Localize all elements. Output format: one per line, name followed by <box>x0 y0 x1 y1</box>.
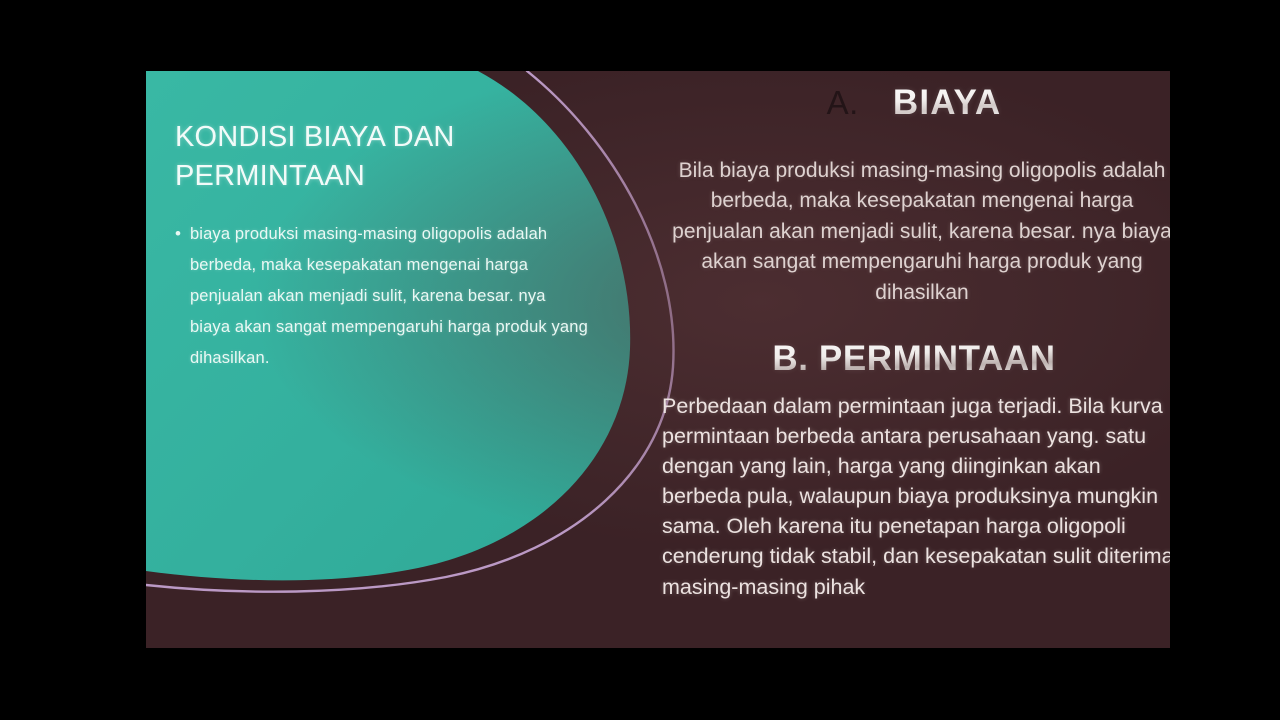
left-panel-body-text: biaya produksi masing-masing oligopolis … <box>190 219 590 374</box>
screenshot-root: KONDISI BIAYA DAN PERMINTAAN • biaya pro… <box>0 0 1280 720</box>
section-a-letter: A. <box>827 84 859 122</box>
left-panel-title: KONDISI BIAYA DAN PERMINTAAN <box>175 118 605 195</box>
right-text-column: A. BIAYA Bila biaya produksi masing-masi… <box>658 71 1170 648</box>
section-a-title: BIAYA <box>893 83 1001 123</box>
presentation-slide: KONDISI BIAYA DAN PERMINTAAN • biaya pro… <box>146 71 1170 648</box>
section-b-body-text: Perbedaan dalam permintaan juga terjadi.… <box>658 391 1170 602</box>
left-text-column: KONDISI BIAYA DAN PERMINTAAN • biaya pro… <box>175 118 605 374</box>
section-b-heading: B. PERMINTAAN <box>658 339 1170 379</box>
section-a-heading: A. BIAYA <box>658 83 1170 123</box>
bullet-point-icon: • <box>175 219 181 249</box>
left-bullet-item: • biaya produksi masing-masing oligopoli… <box>175 219 605 374</box>
section-a-body-text: Bila biaya produksi masing-masing oligop… <box>658 156 1170 308</box>
